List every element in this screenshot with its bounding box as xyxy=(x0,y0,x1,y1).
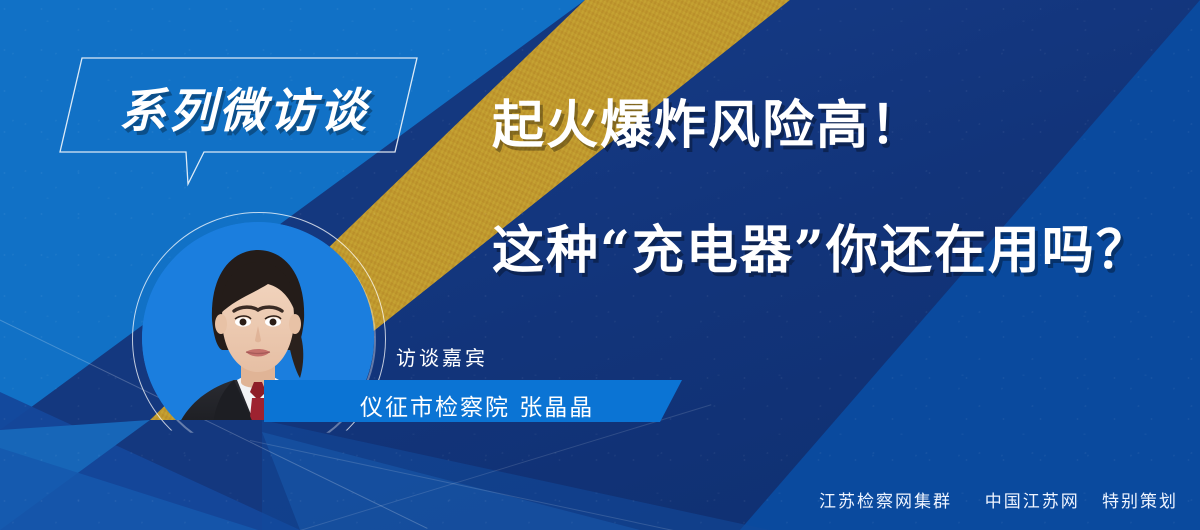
footer-tag: 特别策划 xyxy=(1102,492,1178,512)
guest-role-label: 访谈嘉宾 xyxy=(396,342,488,371)
footer-publisher: 中国江苏网 xyxy=(985,492,1080,512)
series-badge-label: 系列微访谈 xyxy=(84,62,404,150)
headline-line-1: 起火爆炸风险高！ xyxy=(492,100,1192,152)
footer-group: 江苏检察网集群 xyxy=(819,492,952,512)
footer-credits: 江苏检察网集群 中国江苏网 特别策划 xyxy=(819,487,1178,512)
guest-name-text: 仪征市检察院 张晶晶 xyxy=(360,388,594,422)
headline-line-2: 这种“充电器”你还在用吗？ xyxy=(492,225,1192,277)
interview-banner: 系列微访谈 起火爆炸风险高！ 这种“充电器”你还在用吗？ xyxy=(0,0,1200,530)
headline: 起火爆炸风险高！ 这种“充电器”你还在用吗？ xyxy=(492,100,1192,277)
